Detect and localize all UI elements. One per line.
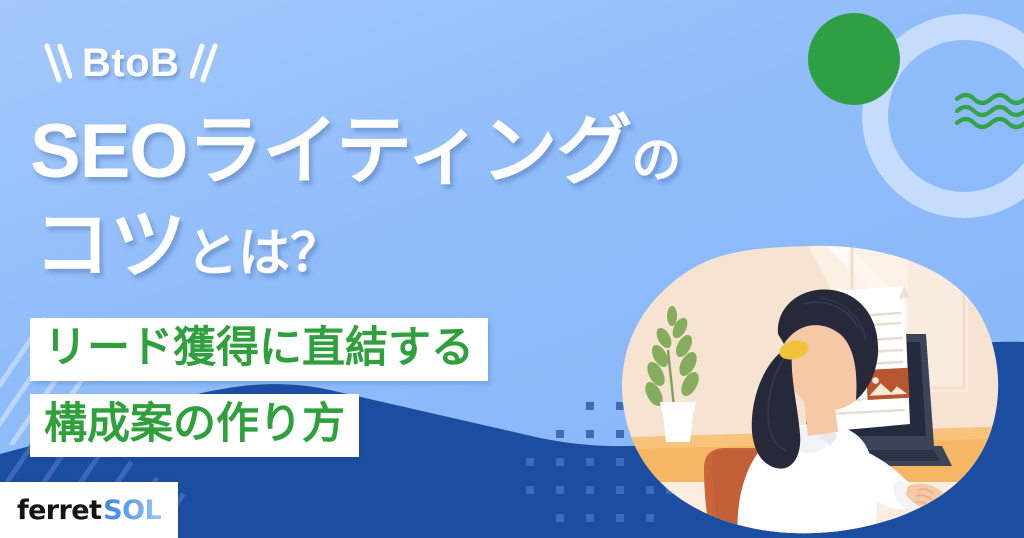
kicker-label: BtoB (82, 43, 180, 83)
logo-product: SOL (101, 495, 161, 526)
slash-left-icon (42, 40, 72, 86)
headline-line-2-suffix: とは？ (186, 225, 342, 283)
headline-line-1-main: SEOライティング (30, 109, 631, 194)
headline-line-2: コツとは？ (34, 208, 342, 284)
logo-brand: ferret (17, 495, 101, 526)
banner-content: BtoB SEOライティングの コツとは？ リード獲得に直結する 構成案の作り方… (0, 0, 1024, 538)
headline-line-1-suffix: の (631, 132, 681, 188)
logo[interactable]: ferretSOL (0, 482, 178, 538)
subtitle-line-2: 構成案の作り方 (30, 394, 359, 457)
headline-line-1: SEOライティングの (30, 114, 681, 190)
banner-canvas: T (0, 0, 1024, 538)
headline-line-2-main: コツ (34, 203, 186, 288)
kicker-badge: BtoB (42, 40, 220, 86)
slash-right-icon (190, 40, 220, 86)
subtitle-line-1: リード獲得に直結する (30, 318, 488, 381)
